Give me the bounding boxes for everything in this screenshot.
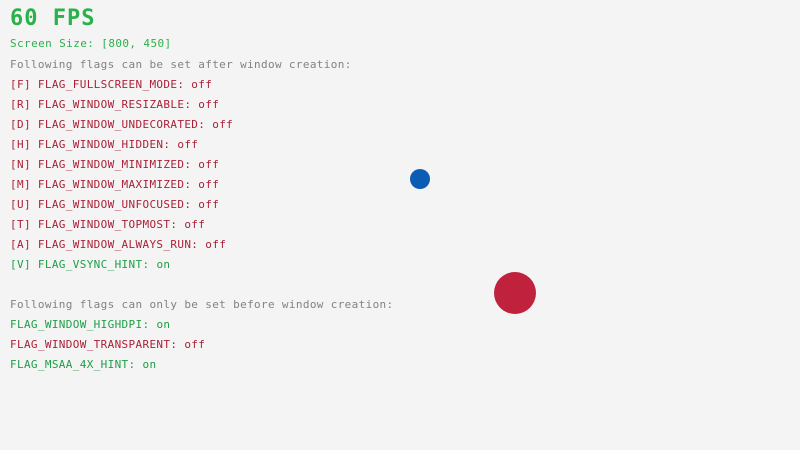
flag-separator: : bbox=[170, 218, 184, 231]
flag-value: on bbox=[156, 258, 170, 271]
flag-shortcut-key: [F] bbox=[10, 78, 38, 91]
flag-separator: : bbox=[191, 238, 205, 251]
flag-value: off bbox=[205, 238, 226, 251]
flag-shortcut-key: [A] bbox=[10, 238, 38, 251]
flag-name: FLAG_WINDOW_RESIZABLE bbox=[38, 98, 184, 111]
flag-separator: : bbox=[163, 138, 177, 151]
flag-value: off bbox=[212, 118, 233, 131]
flag-separator: : bbox=[184, 178, 198, 191]
flag-shortcut-key: [T] bbox=[10, 218, 38, 231]
flag-shortcut-key: [R] bbox=[10, 98, 38, 111]
flag-shortcut-key: [N] bbox=[10, 158, 38, 171]
flag-row[interactable]: [F] FLAG_FULLSCREEN_MODE: off bbox=[10, 78, 233, 98]
flag-value: off bbox=[177, 138, 198, 151]
flag-row[interactable]: [D] FLAG_WINDOW_UNDECORATED: off bbox=[10, 118, 233, 138]
flag-row: FLAG_WINDOW_HIGHDPI: on bbox=[10, 318, 205, 338]
flag-name: FLAG_WINDOW_MINIMIZED bbox=[38, 158, 184, 171]
bouncing-ball-blue bbox=[410, 169, 430, 189]
flag-list-before-creation: FLAG_WINDOW_HIGHDPI: onFLAG_WINDOW_TRANS… bbox=[10, 318, 205, 378]
flag-shortcut-key: [V] bbox=[10, 258, 38, 271]
flag-separator: : bbox=[129, 358, 143, 371]
flag-value: on bbox=[156, 318, 170, 331]
flag-row[interactable]: [A] FLAG_WINDOW_ALWAYS_RUN: off bbox=[10, 238, 233, 258]
flag-name: FLAG_MSAA_4X_HINT bbox=[10, 358, 129, 371]
flag-row[interactable]: [U] FLAG_WINDOW_UNFOCUSED: off bbox=[10, 198, 233, 218]
flag-row[interactable]: [N] FLAG_WINDOW_MINIMIZED: off bbox=[10, 158, 233, 178]
bouncing-ball-red bbox=[494, 272, 536, 314]
flag-row[interactable]: [V] FLAG_VSYNC_HINT: on bbox=[10, 258, 233, 278]
flag-row: FLAG_WINDOW_TRANSPARENT: off bbox=[10, 338, 205, 358]
screen-size-label: Screen Size: [800, 450] bbox=[10, 37, 172, 51]
flag-name: FLAG_WINDOW_UNDECORATED bbox=[38, 118, 198, 131]
flag-name: FLAG_WINDOW_HIDDEN bbox=[38, 138, 164, 151]
flag-separator: : bbox=[184, 98, 198, 111]
flag-row[interactable]: [R] FLAG_WINDOW_RESIZABLE: off bbox=[10, 98, 233, 118]
flag-separator: : bbox=[177, 78, 191, 91]
flag-value: off bbox=[198, 98, 219, 111]
flag-separator: : bbox=[142, 318, 156, 331]
section-heading-before-creation: Following flags can only be set before w… bbox=[10, 298, 394, 312]
section-heading-after-creation: Following flags can be set after window … bbox=[10, 58, 352, 72]
flag-name: FLAG_WINDOW_UNFOCUSED bbox=[38, 198, 184, 211]
flag-shortcut-key: [D] bbox=[10, 118, 38, 131]
fps-counter: 60 FPS bbox=[10, 6, 95, 32]
flag-row[interactable]: [H] FLAG_WINDOW_HIDDEN: off bbox=[10, 138, 233, 158]
flag-row: FLAG_MSAA_4X_HINT: on bbox=[10, 358, 205, 378]
flag-separator: : bbox=[170, 338, 184, 351]
flag-name: FLAG_WINDOW_ALWAYS_RUN bbox=[38, 238, 191, 251]
flag-name: FLAG_WINDOW_MAXIMIZED bbox=[38, 178, 184, 191]
flag-value: on bbox=[143, 358, 157, 371]
flag-name: FLAG_WINDOW_TRANSPARENT bbox=[10, 338, 170, 351]
flag-name: FLAG_WINDOW_TOPMOST bbox=[38, 218, 170, 231]
flag-separator: : bbox=[198, 118, 212, 131]
flag-name: FLAG_VSYNC_HINT bbox=[38, 258, 143, 271]
flag-value: off bbox=[198, 178, 219, 191]
flag-value: off bbox=[184, 338, 205, 351]
flag-row[interactable]: [M] FLAG_WINDOW_MAXIMIZED: off bbox=[10, 178, 233, 198]
flag-separator: : bbox=[184, 198, 198, 211]
flag-separator: : bbox=[142, 258, 156, 271]
flag-shortcut-key: [H] bbox=[10, 138, 38, 151]
flag-name: FLAG_FULLSCREEN_MODE bbox=[38, 78, 177, 91]
flag-value: off bbox=[198, 198, 219, 211]
game-window[interactable]: 60 FPS Screen Size: [800, 450] Following… bbox=[0, 0, 800, 450]
flag-shortcut-key: [U] bbox=[10, 198, 38, 211]
flag-row[interactable]: [T] FLAG_WINDOW_TOPMOST: off bbox=[10, 218, 233, 238]
flag-list-after-creation: [F] FLAG_FULLSCREEN_MODE: off[R] FLAG_WI… bbox=[10, 78, 233, 278]
flag-value: off bbox=[198, 158, 219, 171]
flag-separator: : bbox=[184, 158, 198, 171]
flag-shortcut-key: [M] bbox=[10, 178, 38, 191]
flag-value: off bbox=[191, 78, 212, 91]
flag-name: FLAG_WINDOW_HIGHDPI bbox=[10, 318, 142, 331]
flag-value: off bbox=[184, 218, 205, 231]
